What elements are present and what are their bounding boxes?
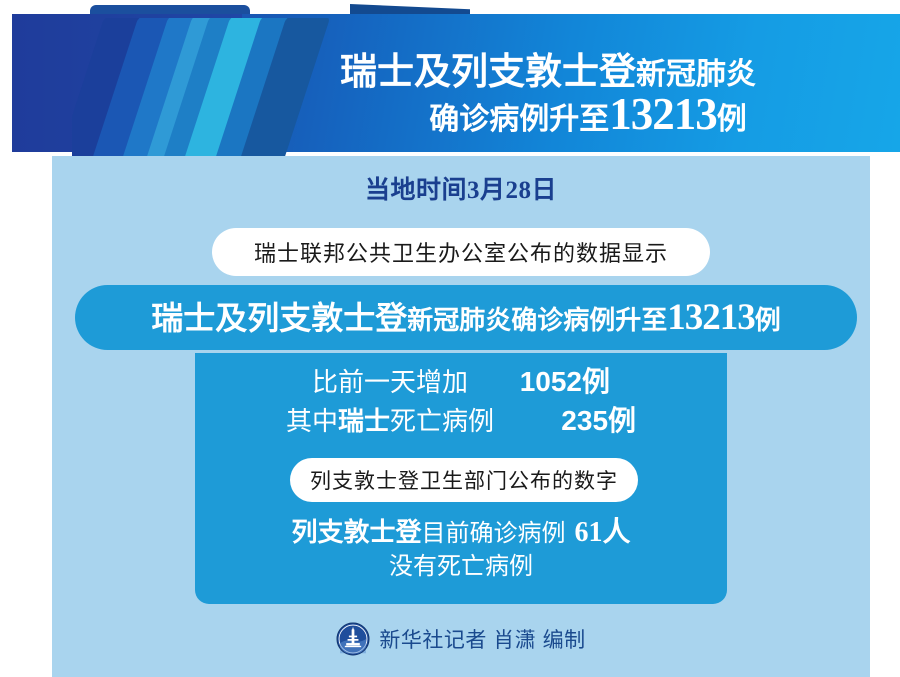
footer-credit-text: 新华社记者 肖潇 编制 [379,624,585,654]
stat-value-deaths: 235例 [516,402,636,441]
stat-row: 其中瑞士死亡病例 235例 [195,402,727,441]
headline-phrase: 新冠肺炎确诊病例升至 [407,305,667,335]
stat-label-suffix: 死亡病例 [390,406,494,436]
liechtenstein-case-count: 61 [574,517,602,548]
xinhua-logo-icon [336,622,370,656]
page-title-disease: 新冠肺炎 [636,58,756,91]
source-pill-liechtenstein-health: 列支敦士登卫生部门公布的数字 [290,458,638,502]
stat-row: 比前一天增加 1052例 [195,363,727,402]
page-title: 瑞士及列支敦士登新冠肺炎 确诊病例升至13213例 [212,36,884,154]
liechtenstein-case-unit: 人 [602,517,630,548]
headline-statistic-text: 瑞士及列支敦士登新冠肺炎确诊病例升至13213例 [151,299,781,336]
stat-label: 其中瑞士死亡病例 [286,404,494,440]
headline-statistic-pill: 瑞士及列支敦士登新冠肺炎确诊病例升至13213例 [75,285,857,350]
page-title-unit: 例 [717,103,747,136]
headline-country: 瑞士及列支敦士登 [151,300,407,336]
header-banner: 瑞士及列支敦士登新冠肺炎 确诊病例升至13213例 [0,0,900,160]
content-panel: 当地时间3月28日 瑞士联邦公共卫生办公室公布的数据显示 瑞士及列支敦士登新冠肺… [52,156,870,677]
liechtenstein-country: 列支敦士登 [292,517,422,547]
statistics-block: 比前一天增加 1052例 其中瑞士死亡病例 235例 列支敦士登卫生部门公布的数… [195,353,727,604]
infographic-poster: 瑞士及列支敦士登新冠肺炎 确诊病例升至13213例 当地时间3月28日 瑞士联邦… [0,0,900,677]
stat-label-prefix: 其中 [286,406,338,436]
date-line: 当地时间3月28日 [52,170,870,206]
stat-label-text: 比前一天增加 [312,367,468,397]
page-title-total-cases: 13213 [609,89,717,139]
page-title-line-1: 瑞士及列支敦士登新冠肺炎 [212,52,884,91]
page-title-line-2: 确诊病例升至13213例 [212,91,884,139]
liechtenstein-phrase: 目前确诊病例 [422,520,566,547]
stat-value-daily-increase: 1052例 [490,363,610,402]
liechtenstein-no-deaths: 没有死亡病例 [195,551,727,582]
page-title-phrase: 确诊病例升至 [429,103,609,136]
source-pill-federal-office: 瑞士联邦公共卫生办公室公布的数据显示 [212,228,710,276]
footer-credit: 新华社记者 肖潇 编制 [52,622,870,656]
headline-total-cases: 13213 [667,297,755,338]
stat-label-emphasis: 瑞士 [338,406,390,436]
stat-label: 比前一天增加 [312,365,468,401]
header-gradient-bar: 瑞士及列支敦士登新冠肺炎 确诊病例升至13213例 [12,14,900,152]
liechtenstein-cases-row: 列支敦士登目前确诊病例 61人 [195,515,727,551]
headline-unit: 例 [755,305,781,335]
liechtenstein-stats: 列支敦士登目前确诊病例 61人 没有死亡病例 [195,515,727,583]
statistics-rows: 比前一天增加 1052例 其中瑞士死亡病例 235例 [195,363,727,440]
page-title-country: 瑞士及列支敦士登 [340,51,636,92]
